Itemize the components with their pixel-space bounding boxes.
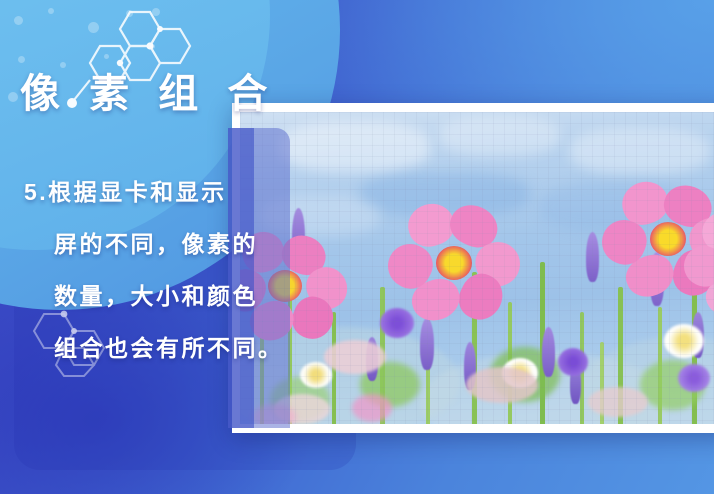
decorative-dot xyxy=(14,16,23,25)
decorative-dot xyxy=(18,56,25,63)
body-line-1: 5.根据显卡和显示 xyxy=(24,166,354,218)
decorative-dot xyxy=(8,92,18,102)
body-line-2: 屏的不同，像素的 xyxy=(24,218,354,270)
body-line-4: 组合也会有所不同。 xyxy=(24,322,354,374)
slide-canvas: 像 素 组 合 5.根据显卡和显示 屏的不同，像素的 数量，大小和颜色 组合也会… xyxy=(0,0,714,494)
body-line-3: 数量，大小和颜色 xyxy=(24,270,354,322)
page-title: 像 素 组 合 xyxy=(20,72,276,116)
body-text-block: 5.根据显卡和显示 屏的不同，像素的 数量，大小和颜色 组合也会有所不同。 xyxy=(24,166,354,374)
